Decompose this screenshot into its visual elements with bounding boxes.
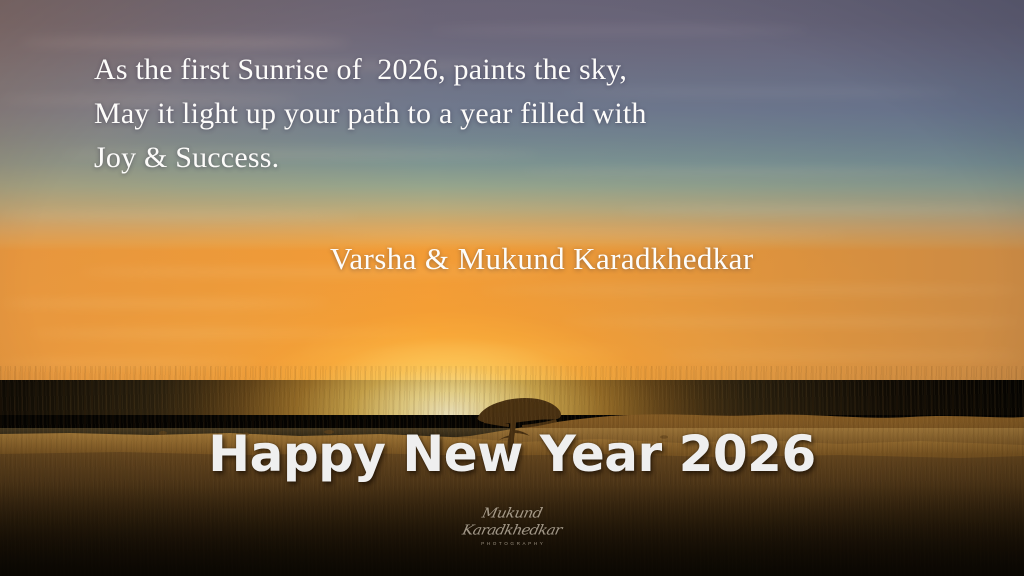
signature-names: Varsha & Mukund Karadkhedkar [330,240,754,278]
quote-text: As the first Sunrise of 2026, paints the… [94,48,884,180]
greeting-card: As the first Sunrise of 2026, paints the… [0,0,1024,576]
headline-happy-new-year: Happy New Year 2026 [0,425,1024,483]
